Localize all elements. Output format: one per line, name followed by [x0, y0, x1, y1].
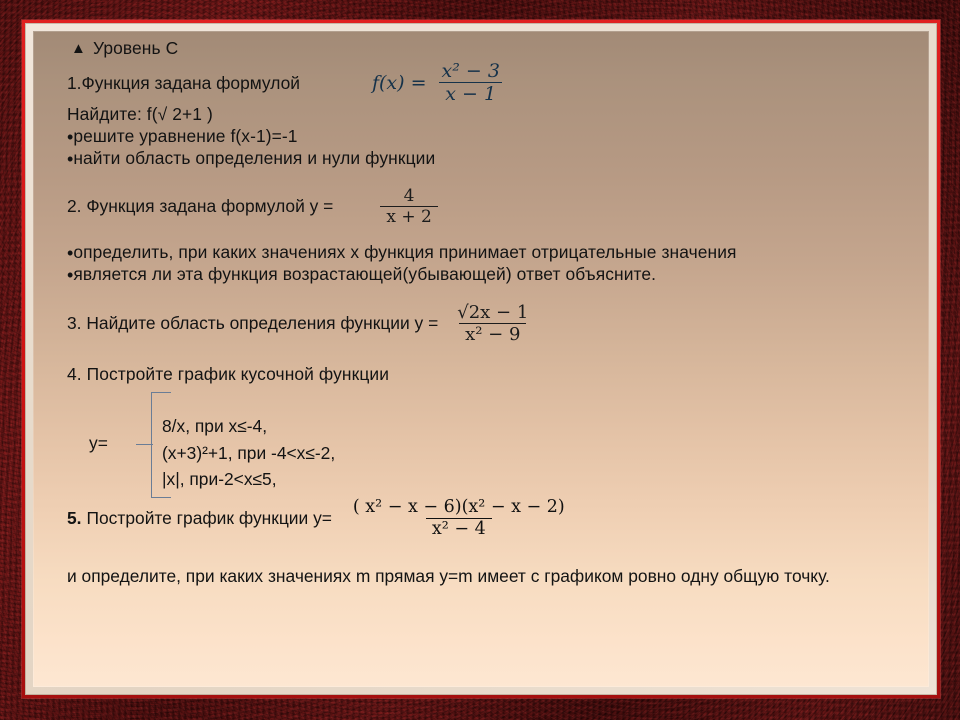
item3-intro-text: 3. Найдите область определения функции у… [67, 315, 438, 332]
item4-intro-text: 4. Постройте график кусочной функции [67, 366, 915, 383]
item1-bullet-1: •решите уравнение f(x-1)=-1 [67, 128, 915, 146]
piecewise-cases: 8/х, при х≤-4, (х+3)²+1, при -4<х≤-2, |х… [162, 413, 335, 492]
item5-closing-text: и определите, при каких значениях m прям… [67, 564, 887, 588]
item5-intro-text: Постройте график функции у= [87, 510, 332, 527]
item2-intro-row: 2. Функция задана формулой y = 4 x + 2 [67, 188, 915, 226]
item1-numerator: x² − 3 [435, 62, 505, 82]
item5-number: 5. [67, 510, 82, 527]
piecewise-case-1: 8/х, при х≤-4, [162, 413, 335, 439]
content-body: ▲Уровень С 1.Функция задана формулой f(x… [67, 40, 915, 588]
item2-bullet-1-text: определить, при каких значениях х функци… [73, 242, 736, 262]
item2-bullet-2-text: является ли эта функция возрастающей(убы… [73, 264, 656, 284]
piecewise-case-2: (х+3)²+1, при -4<х≤-2, [162, 440, 335, 466]
triangle-bullet-icon: ▲ [71, 41, 86, 56]
item1-intro-text: 1.Функция задана формулой [67, 75, 300, 92]
item1-denominator: x − 1 [439, 82, 502, 104]
item1-bullet-2-text: найти область определения и нули функции [73, 148, 435, 168]
item2-intro-text: 2. Функция задана формулой y = [67, 198, 333, 215]
item2-numerator: 4 [398, 188, 421, 206]
item3-fraction: √2x − 1 x² − 9 [451, 304, 534, 344]
item5-intro-row: 5. Постройте график функции у= ( x² − x … [67, 499, 915, 538]
spacer [67, 168, 915, 188]
item1-bullet-1-text: решите уравнение f(x-1)=-1 [73, 126, 297, 146]
item1-intro-row: 1.Функция задана формулой f(x) = x² − 3 … [67, 62, 915, 104]
item2-bullet-2: •является ли эта функция возрастающей(уб… [67, 266, 915, 284]
piecewise-case-3: |х|, при-2<х≤5, [162, 466, 335, 492]
item2-fraction: 4 x + 2 [380, 188, 437, 226]
item2-formula: 4 x + 2 [377, 188, 440, 226]
piecewise-function-block: y= 8/х, при х≤-4, (х+3)²+1, при -4<х≤-2,… [67, 389, 915, 497]
item2-bullet-1: •определить, при каких значениях х функц… [67, 244, 915, 262]
item5-fraction: ( x² − x − 6)(x² − x − 2) x² − 4 [347, 499, 571, 538]
item3-intro-row: 3. Найдите область определения функции у… [67, 304, 915, 344]
item3-formula: √2x − 1 x² − 9 [448, 304, 537, 344]
item1-fraction: x² − 3 x − 1 [435, 62, 505, 104]
item3-denominator: x² − 9 [459, 323, 526, 344]
slide-root: ▲Уровень С 1.Функция задана формулой f(x… [0, 0, 960, 720]
heading-label: Уровень С [93, 38, 178, 58]
item1-find-line: Найдите: f(√ 2+1 ) [67, 106, 915, 123]
piecewise-y-label: y= [89, 435, 108, 452]
item3-numerator: √2x − 1 [451, 304, 534, 323]
item1-formula-lhs: f(x) [372, 74, 405, 93]
spacer [67, 538, 915, 560]
slide-heading: ▲Уровень С [71, 40, 915, 57]
slide-content-area: ▲Уровень С 1.Функция задана формулой f(x… [33, 31, 929, 687]
spacer [67, 344, 915, 366]
spacer [67, 284, 915, 304]
item1-bullet-2: •найти область определения и нули функци… [67, 150, 915, 168]
item2-denominator: x + 2 [380, 206, 437, 226]
item5-numerator: ( x² − x − 6)(x² − x − 2) [347, 499, 571, 518]
item1-formula-equals: = [411, 74, 427, 93]
item5-denominator: x² − 4 [426, 518, 492, 539]
item1-formula: f(x) = x² − 3 x − 1 [372, 62, 509, 104]
piecewise-brace-stem [136, 444, 153, 445]
item5-formula: ( x² − x − 6)(x² − x − 2) x² − 4 [344, 499, 574, 538]
